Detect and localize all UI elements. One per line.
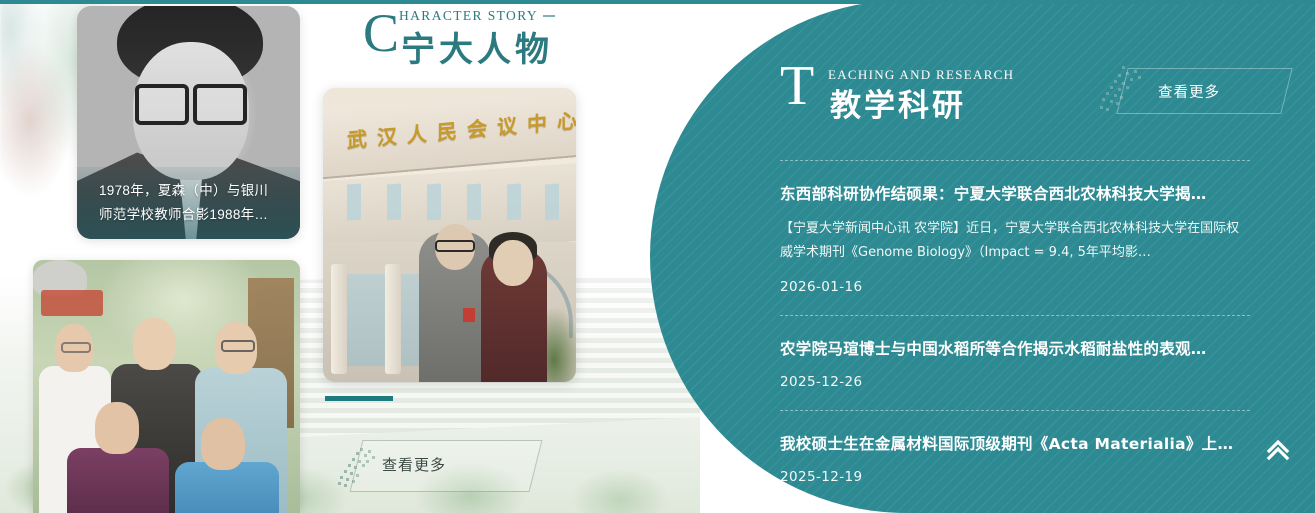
portrait-glasses (135, 84, 247, 117)
character-story-accent-bar (325, 396, 393, 401)
news-item[interactable]: 我校硕士生在金属材料国际顶级期刊《Acta Materialia》上… 2025… (780, 410, 1250, 505)
family-photo-card[interactable] (33, 260, 300, 513)
portrait-caption-line2: 师范学校教师合影1988年… (99, 203, 284, 227)
building-photo-card[interactable]: 武汉人民会议中心 (323, 88, 576, 382)
building-window (545, 184, 559, 221)
news-item-title: 农学院马瑄博士与中国水稻所等合作揭示水稻耐盐性的表观… (780, 338, 1250, 360)
family-person-3-glasses (221, 340, 255, 352)
building-window (507, 184, 521, 221)
portrait-caption-line1: 1978年，夏森（中）与银川 (99, 179, 284, 203)
news-item[interactable]: 农学院马瑄博士与中国水稻所等合作揭示水稻耐盐性的表观… 2025-12-26 (780, 315, 1250, 410)
building-window (387, 184, 401, 221)
family-person-2-head (133, 318, 175, 370)
teaching-research-more-label: 查看更多 (1158, 81, 1220, 102)
news-item-date: 2025-12-19 (780, 469, 1250, 485)
news-item-summary: 【宁夏大学新闻中心讯 农学院】近日，宁夏大学联合西北农林科技大学在国际权威学术期… (780, 217, 1250, 265)
building-person-man-glasses (435, 240, 475, 252)
portrait-photo-card[interactable]: 1978年，夏森（中）与银川 师范学校教师合影1988年… (77, 6, 300, 239)
building-window (347, 184, 361, 221)
character-story-drop-cap: C (363, 6, 399, 60)
news-item-title: 我校硕士生在金属材料国际顶级期刊《Acta Materialia》上… (780, 433, 1250, 455)
teaching-research-content: T EACHING AND RESEARCH 教学科研 (650, 0, 1315, 513)
family-person-4-head (95, 402, 139, 454)
family-bg-banner (41, 290, 103, 316)
character-story-cn-title: 宁大人物 (401, 22, 553, 71)
character-story-more-button[interactable]: 查看更多 (330, 440, 540, 492)
character-story-dash-divider (543, 15, 555, 17)
chevron-double-up-icon (1261, 432, 1295, 466)
building-window (467, 184, 481, 221)
news-item-title: 东西部科研协作结硕果：宁夏大学联合西北农林科技大学揭… (780, 183, 1250, 205)
news-item-date: 2025-12-26 (780, 374, 1250, 390)
family-person-1-glasses (61, 342, 91, 353)
back-to-top-button[interactable] (1261, 432, 1295, 466)
building-column (385, 264, 401, 374)
building-photo-image: 武汉人民会议中心 (323, 88, 576, 382)
teaching-research-more-button[interactable]: 查看更多 (1100, 62, 1290, 118)
building-window (427, 184, 441, 221)
teaching-research-drop-cap: T (780, 58, 814, 114)
building-person-badge (463, 308, 475, 322)
news-item-date: 2026-01-16 (780, 279, 1250, 295)
family-photo-image (33, 260, 300, 513)
news-item[interactable]: 东西部科研协作结硕果：宁夏大学联合西北农林科技大学揭… 【宁夏大学新闻中心讯 农… (780, 160, 1250, 315)
top-accent-strip (0, 0, 1315, 4)
building-column (331, 264, 347, 374)
character-story-more-label: 查看更多 (382, 454, 446, 475)
building-person-woman-head (493, 240, 533, 286)
family-person-4-body (67, 448, 169, 513)
portrait-caption: 1978年，夏森（中）与银川 师范学校教师合影1988年… (77, 167, 300, 239)
news-list: 东西部科研协作结硕果：宁夏大学联合西北农林科技大学揭… 【宁夏大学新闻中心讯 农… (780, 160, 1250, 505)
teaching-research-cn-title: 教学科研 (830, 80, 966, 125)
teaching-research-panel: T EACHING AND RESEARCH 教学科研 (650, 0, 1315, 513)
family-person-5-head (201, 418, 245, 470)
